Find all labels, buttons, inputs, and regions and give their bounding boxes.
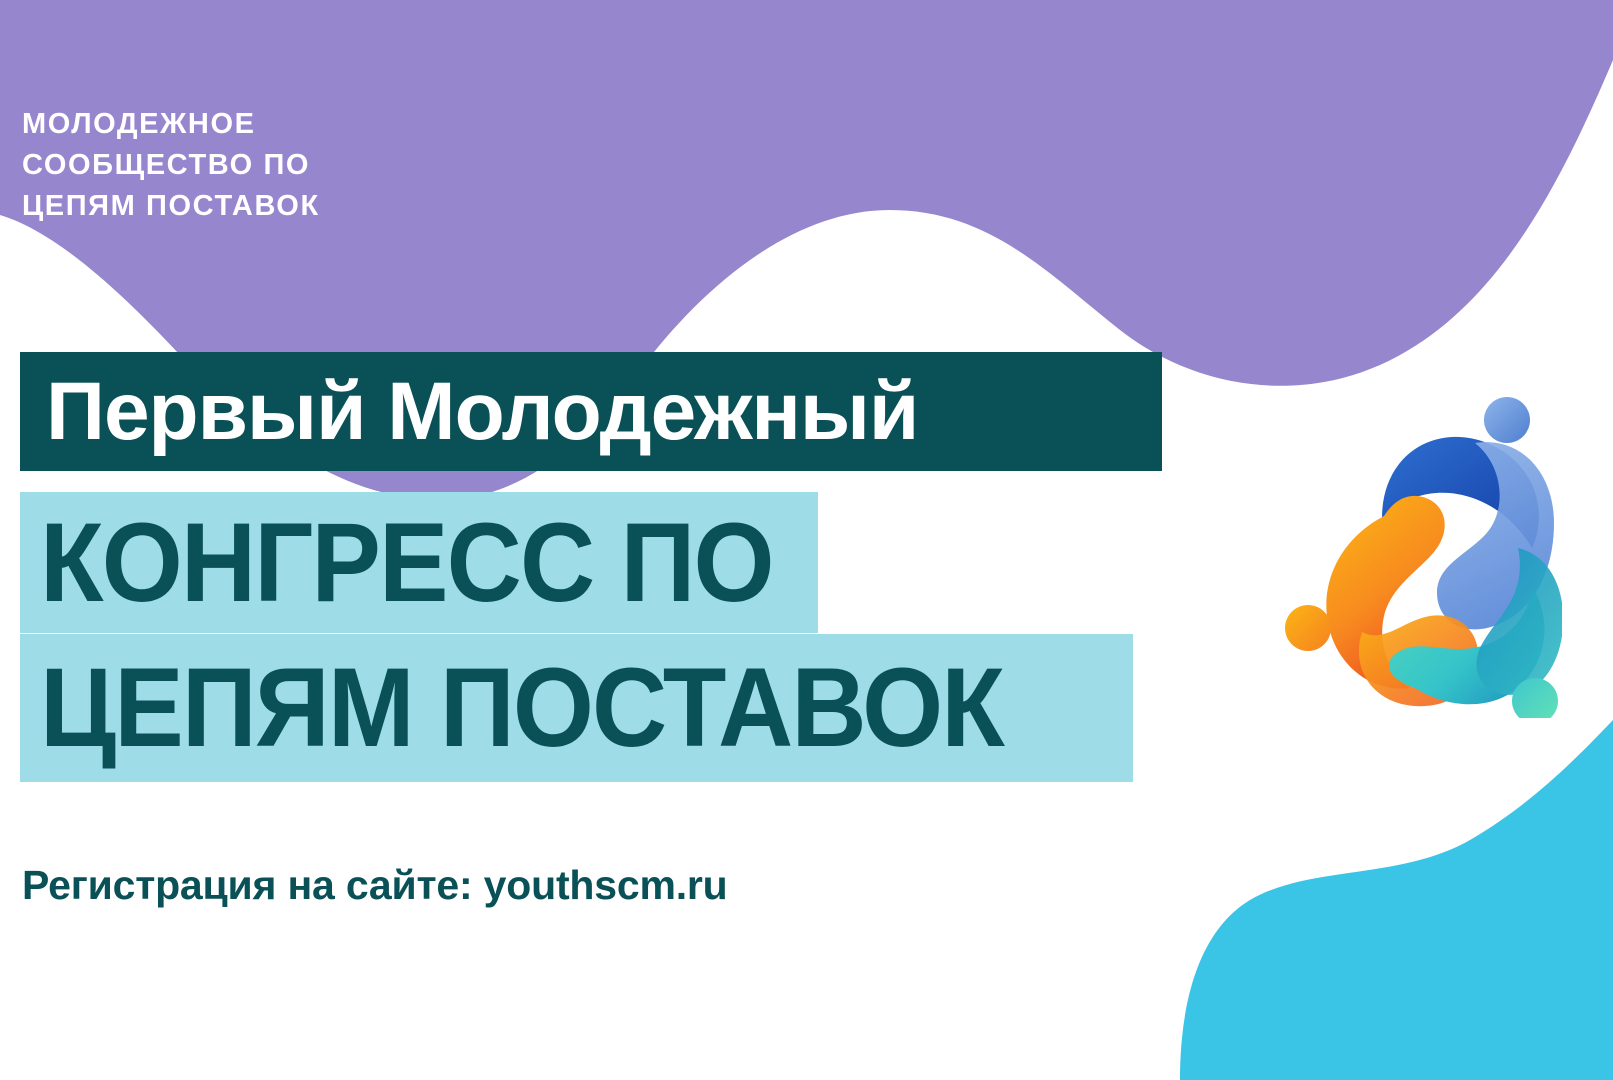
blue-accent-circle xyxy=(1484,397,1530,443)
headline-line-2: КОНГРЕСС ПО xyxy=(40,507,773,619)
youth-scm-community-logo xyxy=(1232,388,1562,718)
poster-canvas: МОЛОДЕЖНОЕ СООБЩЕСТВО ПО ЦЕПЯМ ПОСТАВОК … xyxy=(0,0,1613,1080)
orange-accent-circle xyxy=(1285,605,1331,651)
registration-text: Регистрация на сайте: youthscm.ru xyxy=(22,862,728,909)
cyan-wave-shape xyxy=(1180,720,1613,1080)
community-eyebrow-text: МОЛОДЕЖНОЕ СООБЩЕСТВО ПО ЦЕПЯМ ПОСТАВОК xyxy=(22,104,662,228)
headline-band-secondary-top: КОНГРЕСС ПО xyxy=(20,492,818,633)
headline-line-3: ЦЕПЯМ ПОСТАВОК xyxy=(40,652,1003,764)
headline-band-primary: Первый Молодежный xyxy=(20,352,1162,471)
headline-band-secondary-bottom: ЦЕПЯМ ПОСТАВОК xyxy=(20,634,1133,782)
headline-line-1: Первый Молодежный xyxy=(46,371,918,453)
